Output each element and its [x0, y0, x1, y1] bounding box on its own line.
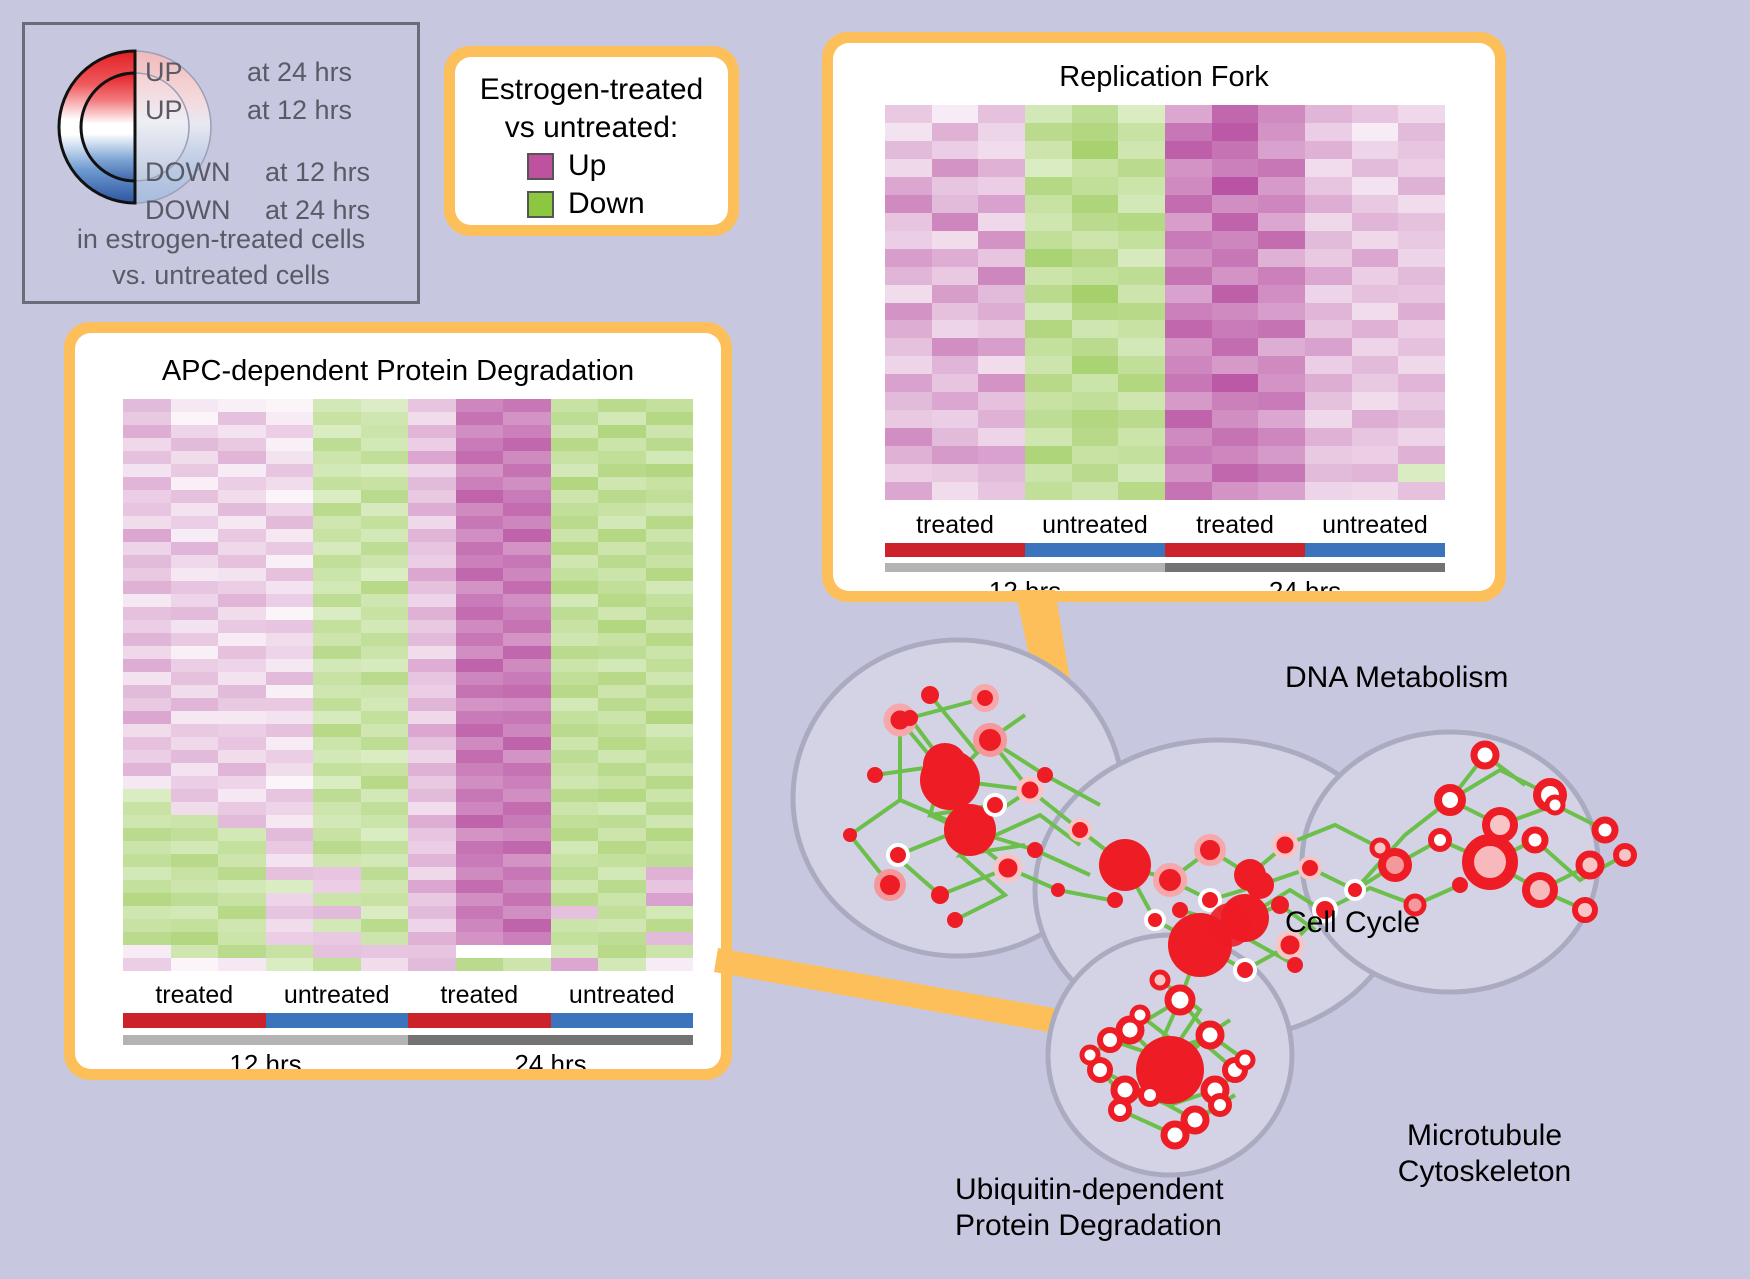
heatmap-cell [1305, 141, 1352, 159]
heatmap-cell [456, 464, 504, 477]
heatmap-cell [646, 607, 694, 620]
heatmap-cell [218, 581, 266, 594]
heatmap-cell [1072, 213, 1119, 231]
heatmap-cell [1072, 320, 1119, 338]
heatmap-cell [171, 503, 219, 516]
heatmap-cell [1025, 356, 1072, 374]
heatmap-cell [1165, 428, 1212, 446]
heatmap-cell [503, 659, 551, 672]
bar-segment [551, 1013, 694, 1028]
heatmap-cell [408, 451, 456, 464]
heatmap-cell [646, 425, 694, 438]
heatmap-cell [171, 802, 219, 815]
heatmap-cell [218, 724, 266, 737]
heatmap-cell [408, 620, 456, 633]
heatmap-cell [171, 620, 219, 633]
heatmap-cell [1025, 482, 1072, 500]
heatmap-cell [598, 516, 646, 529]
heatmap-cell [551, 412, 599, 425]
heatmap-cell [123, 620, 171, 633]
heatmap-cell [218, 633, 266, 646]
heatmap-cell [598, 828, 646, 841]
heatmap-cell [361, 607, 409, 620]
heatmap-cell [1212, 105, 1259, 123]
heatmap-cell [218, 789, 266, 802]
heatmap-cell [1025, 464, 1072, 482]
heatmap-cell [218, 906, 266, 919]
heatmap-cell [123, 399, 171, 412]
heatmap-cell [266, 880, 314, 893]
heatmap-cell [978, 428, 1025, 446]
bar-segment [266, 1013, 409, 1028]
heatmap-cell [1072, 177, 1119, 195]
heatmap-cell [1212, 374, 1259, 392]
heatmap-cell [1352, 482, 1399, 500]
heatmap-cell [1165, 213, 1212, 231]
heatmap-cell [266, 802, 314, 815]
heatmap-cell [266, 529, 314, 542]
heatmap-cell [598, 594, 646, 607]
heatmap-cell [1118, 285, 1165, 303]
heatmap-cell [313, 503, 361, 516]
heatmap-cell [598, 477, 646, 490]
legend-swatch-down [527, 191, 554, 218]
heatmap-cell [456, 555, 504, 568]
heatmap-cell [1305, 410, 1352, 428]
bar-segment [123, 1013, 266, 1028]
heatmap-cell [123, 841, 171, 854]
heatmap-cell [885, 320, 932, 338]
heatmap-cell [885, 410, 932, 428]
heatmap-cell [1072, 123, 1119, 141]
heatmap-cell [266, 919, 314, 932]
heatmap-cell [503, 789, 551, 802]
heatmap-cell [123, 490, 171, 503]
heatmap-cell [408, 412, 456, 425]
legend-swatch-up [527, 153, 554, 180]
heatmap-cell [598, 607, 646, 620]
color-key-footer-line2: vs. untreated cells [25, 257, 417, 293]
heatmap-cell [598, 945, 646, 958]
heatmap-cell [218, 958, 266, 971]
legend-label-up: Up [568, 151, 606, 181]
heatmap-cell [361, 438, 409, 451]
heatmap-cell [932, 285, 979, 303]
heatmap-cell [456, 581, 504, 594]
heatmap-cell [408, 659, 456, 672]
heatmap-cell [361, 503, 409, 516]
heatmap-cell [361, 568, 409, 581]
heatmap-cell [171, 659, 219, 672]
heatmap-cell [1258, 356, 1305, 374]
heatmap-cell [1352, 213, 1399, 231]
heatmap-cell [408, 477, 456, 490]
heatmap-cell [266, 555, 314, 568]
heatmap-cell [551, 399, 599, 412]
heatmap-cell [1258, 446, 1305, 464]
heatmap-cell [1305, 392, 1352, 410]
heatmap-cell [361, 919, 409, 932]
heatmap-cell [1118, 428, 1165, 446]
heatmap-cell [123, 581, 171, 594]
heatmap-cell [266, 594, 314, 607]
heatmap-cell [551, 672, 599, 685]
heatmap-cell [885, 249, 932, 267]
heatmap-cell [218, 880, 266, 893]
heatmap-cell [361, 464, 409, 477]
heatmap-cell [1025, 177, 1072, 195]
heatmap-cell [885, 392, 932, 410]
heatmap-cell [456, 841, 504, 854]
heatmap-cell [1118, 177, 1165, 195]
heatmap-cell [313, 529, 361, 542]
heatmap-cell [598, 672, 646, 685]
heatmap-cell [1072, 267, 1119, 285]
heatmap-cell [313, 906, 361, 919]
heatmap-cell [456, 893, 504, 906]
heatmap-cell [313, 724, 361, 737]
heatmap-cell [408, 815, 456, 828]
color-key-footer: in estrogen-treated cells vs. untreated … [25, 221, 417, 293]
heatmap-cell [885, 195, 932, 213]
heatmap-cell [503, 698, 551, 711]
heatmap-cell [123, 867, 171, 880]
heatmap-cell [218, 776, 266, 789]
heatmap-cell [1165, 141, 1212, 159]
heatmap-cell [1398, 159, 1445, 177]
heatmap-cell [313, 412, 361, 425]
heatmap-cell [503, 724, 551, 737]
heatmap-cell [1352, 303, 1399, 321]
heatmap-cell [646, 633, 694, 646]
heatmap-cell [408, 698, 456, 711]
heatmap-cell [978, 320, 1025, 338]
heatmap-cell [503, 776, 551, 789]
heatmap-cell [456, 763, 504, 776]
heatmap-cell [1165, 249, 1212, 267]
heatmap-cell [408, 464, 456, 477]
apc-time-bar [123, 1035, 693, 1045]
heatmap-cell [266, 542, 314, 555]
heatmap-cell [1398, 410, 1445, 428]
heatmap-cell [646, 685, 694, 698]
heatmap-cell [1118, 356, 1165, 374]
heatmap-cell [1352, 285, 1399, 303]
heatmap-cell [932, 231, 979, 249]
heatmap-cell [1025, 392, 1072, 410]
heatmap-cell [361, 646, 409, 659]
heatmap-cell [1305, 356, 1352, 374]
heatmap-cell [171, 906, 219, 919]
bar-segment [1305, 543, 1445, 557]
heatmap-cell [1212, 303, 1259, 321]
heatmap-cell [1305, 267, 1352, 285]
color-key-footer-line1: in estrogen-treated cells [25, 221, 417, 257]
heatmap-cell [598, 867, 646, 880]
heatmap-cell [646, 451, 694, 464]
heatmap-cell [551, 880, 599, 893]
heatmap-cell [1072, 428, 1119, 446]
heatmap-cell [313, 854, 361, 867]
heatmap-cell [1398, 267, 1445, 285]
heatmap-cell [1165, 482, 1212, 500]
heatmap-cell [1258, 482, 1305, 500]
heatmap-cell [361, 893, 409, 906]
heatmap-cell [218, 828, 266, 841]
group-label-3: untreated [551, 981, 694, 1010]
heatmap-cell [313, 789, 361, 802]
heatmap-cell [1118, 141, 1165, 159]
heatmap-cell [598, 698, 646, 711]
bar-segment [123, 1035, 408, 1045]
heatmap-cell [1212, 356, 1259, 374]
heatmap-cell [1258, 213, 1305, 231]
heatmap-cell [932, 428, 979, 446]
heatmap-cell [456, 425, 504, 438]
heatmap-cell [361, 841, 409, 854]
heatmap-cell [551, 646, 599, 659]
time-label-1: 24 hrs [408, 1049, 693, 1069]
heatmap-cell [646, 906, 694, 919]
heatmap-cell [1212, 123, 1259, 141]
color-key-box: UP at 24 hrs UP at 12 hrs DOWN at 12 hrs… [22, 22, 420, 304]
heatmap-cell [218, 763, 266, 776]
heatmap-cell [456, 529, 504, 542]
heatmap-cell [646, 802, 694, 815]
legend-label-down: Down [568, 189, 645, 219]
heatmap-cell [266, 932, 314, 945]
heatmap-cell [266, 659, 314, 672]
heatmap-cell [313, 880, 361, 893]
heatmap-cell [266, 425, 314, 438]
heatmap-cell [361, 399, 409, 412]
heatmap-cell [1352, 231, 1399, 249]
heatmap-cell [1352, 267, 1399, 285]
heatmap-cell [313, 659, 361, 672]
heatmap-cell [1258, 285, 1305, 303]
heatmap-cell [1352, 320, 1399, 338]
heatmap-cell [503, 620, 551, 633]
heatmap-cell [171, 815, 219, 828]
heatmap-cell [932, 374, 979, 392]
heatmap-cell [1072, 410, 1119, 428]
heatmap-cell [171, 672, 219, 685]
heatmap-cell [646, 503, 694, 516]
heatmap-cell [266, 464, 314, 477]
heatmap-cell [503, 945, 551, 958]
heatmap-cell [1025, 320, 1072, 338]
heatmap-cell [456, 737, 504, 750]
heatmap-cell [456, 698, 504, 711]
heatmap-cell [1398, 213, 1445, 231]
heatmap-cell [503, 542, 551, 555]
group-label-2: treated [1165, 511, 1305, 540]
heatmap-cell [313, 594, 361, 607]
heatmap-cell [885, 123, 932, 141]
heatmap-cell [361, 958, 409, 971]
heatmap-cell [885, 338, 932, 356]
group-label-0: treated [123, 981, 266, 1010]
heatmap-cell [598, 425, 646, 438]
heatmap-cell [361, 685, 409, 698]
heatmap-cell [456, 828, 504, 841]
heatmap-cell [408, 607, 456, 620]
heatmap-cell [978, 482, 1025, 500]
heatmap-cell [1025, 446, 1072, 464]
heatmap-cell [171, 854, 219, 867]
heatmap-cell [218, 711, 266, 724]
heatmap-cell [171, 880, 219, 893]
heatmap-cell [1305, 195, 1352, 213]
heatmap-cell [551, 958, 599, 971]
heatmap-cell [1025, 338, 1072, 356]
heatmap-cell [361, 425, 409, 438]
heatmap-cell [456, 932, 504, 945]
group-label-2: treated [408, 981, 551, 1010]
heatmap-cell [551, 711, 599, 724]
heatmap-cell [1025, 410, 1072, 428]
heatmap-cell [171, 750, 219, 763]
key-row-2-label: DOWN [145, 157, 230, 188]
heatmap-cell [1352, 446, 1399, 464]
heatmap-cell [123, 919, 171, 932]
heatmap-cell [123, 932, 171, 945]
heatmap-cell [978, 338, 1025, 356]
heatmap-cell [1165, 123, 1212, 141]
heatmap-cell [551, 906, 599, 919]
heatmap-cell [266, 854, 314, 867]
heatmap-cell [408, 542, 456, 555]
heatmap-cell [646, 399, 694, 412]
heatmap-cell [123, 789, 171, 802]
heatmap-cell [313, 867, 361, 880]
heatmap-cell [1398, 392, 1445, 410]
heatmap-cell [123, 828, 171, 841]
apc-panel: APC-dependent Protein Degradation treate… [64, 322, 732, 1080]
ubiquitin-line2: Protein Degradation [955, 1208, 1224, 1244]
heatmap-cell [551, 568, 599, 581]
heatmap-cell [1165, 285, 1212, 303]
heatmap-cell [1305, 446, 1352, 464]
heatmap-cell [456, 685, 504, 698]
heatmap-cell [1212, 267, 1259, 285]
heatmap-cell [123, 776, 171, 789]
heatmap-cell [266, 958, 314, 971]
heatmap-cell [456, 711, 504, 724]
heatmap-cell [456, 451, 504, 464]
heatmap-cell [1025, 267, 1072, 285]
heatmap-cell [1212, 410, 1259, 428]
heatmap-cell [123, 945, 171, 958]
heatmap-cell [408, 789, 456, 802]
heatmap-cell [456, 802, 504, 815]
heatmap-cell [503, 880, 551, 893]
heatmap-cell [313, 737, 361, 750]
apc-group-labels: treated untreated treated untreated [123, 981, 693, 1010]
cluster-label-dna-metabolism: DNA Metabolism [1285, 660, 1508, 696]
heatmap-cell [171, 646, 219, 659]
cluster-label-ubiquitin-protein-degradation: Ubiquitin-dependent Protein Degradation [955, 1172, 1224, 1244]
heatmap-cell [123, 568, 171, 581]
heatmap-cell [218, 594, 266, 607]
heatmap-cell [551, 776, 599, 789]
heatmap-cell [1165, 267, 1212, 285]
heatmap-cell [171, 516, 219, 529]
heatmap-cell [551, 581, 599, 594]
heatmap-cell [218, 698, 266, 711]
heatmap-cell [503, 919, 551, 932]
replication-fork-group-labels: treated untreated treated untreated [885, 511, 1445, 540]
heatmap-cell [218, 568, 266, 581]
heatmap-cell [598, 893, 646, 906]
heatmap-cell [171, 789, 219, 802]
heatmap-cell [598, 451, 646, 464]
heatmap-cell [266, 724, 314, 737]
heatmap-cell [1258, 105, 1305, 123]
key-row-1-time: at 12 hrs [247, 95, 352, 126]
heatmap-cell [171, 867, 219, 880]
heatmap-cell [503, 763, 551, 776]
heatmap-cell [551, 932, 599, 945]
heatmap-cell [218, 815, 266, 828]
heatmap-cell [313, 464, 361, 477]
heatmap-cell [361, 477, 409, 490]
heatmap-cell [123, 880, 171, 893]
replication-fork-title: Replication Fork [833, 61, 1495, 94]
heatmap-cell [1258, 177, 1305, 195]
heatmap-cell [408, 711, 456, 724]
heatmap-cell [171, 594, 219, 607]
heatmap-cell [361, 594, 409, 607]
heatmap-cell [598, 542, 646, 555]
heatmap-cell [456, 750, 504, 763]
heatmap-cell [598, 685, 646, 698]
heatmap-cell [218, 867, 266, 880]
apc-title: APC-dependent Protein Degradation [75, 355, 721, 388]
heatmap-cell [408, 399, 456, 412]
heatmap-cell [551, 477, 599, 490]
heatmap-cell [408, 945, 456, 958]
heatmap-cell [1118, 123, 1165, 141]
heatmap-cell [361, 698, 409, 711]
heatmap-cell [551, 451, 599, 464]
heatmap-cell [932, 320, 979, 338]
heatmap-cell [361, 581, 409, 594]
heatmap-cell [123, 646, 171, 659]
bar-segment [1025, 543, 1165, 557]
heatmap-cell [598, 880, 646, 893]
heatmap-cell [361, 867, 409, 880]
heatmap-cell [171, 893, 219, 906]
heatmap-cell [885, 428, 932, 446]
heatmap-cell [408, 828, 456, 841]
heatmap-cell [171, 568, 219, 581]
heatmap-cell [408, 516, 456, 529]
heatmap-cell [408, 932, 456, 945]
heatmap-cell [313, 776, 361, 789]
heatmap-cell [1212, 285, 1259, 303]
heatmap-cell [551, 516, 599, 529]
heatmap-cell [978, 374, 1025, 392]
heatmap-cell [266, 750, 314, 763]
heatmap-cell [361, 776, 409, 789]
heatmap-cell [1398, 356, 1445, 374]
heatmap-cell [932, 195, 979, 213]
heatmap-cell [978, 249, 1025, 267]
heatmap-cell [932, 267, 979, 285]
heatmap-cell [408, 490, 456, 503]
heatmap-cell [171, 412, 219, 425]
